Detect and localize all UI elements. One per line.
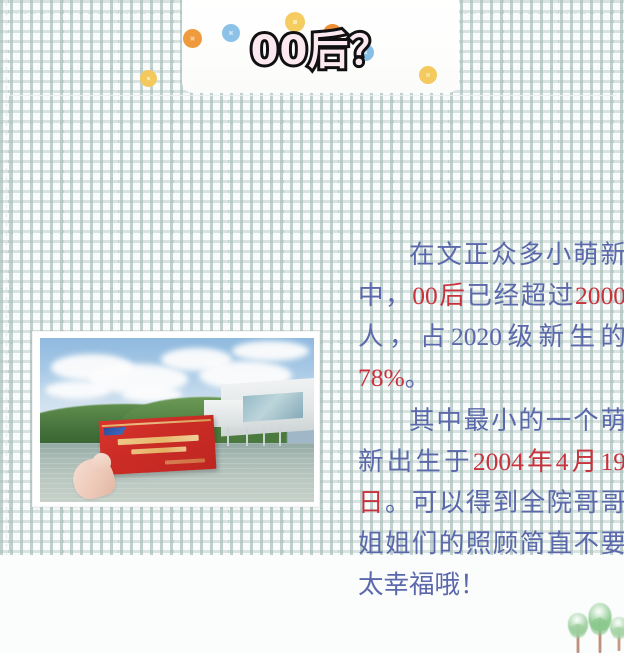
tree-decoration-group — [566, 599, 624, 651]
tree-right-icon — [610, 617, 624, 651]
tree-crown-lower — [590, 618, 609, 635]
photo-building-stilt — [227, 428, 229, 446]
admission-letter-photo — [40, 338, 314, 502]
body-text: 人，占2020级新生的 — [358, 322, 624, 351]
highlighted-text: 2000 — [575, 281, 624, 310]
photo-frame — [32, 331, 320, 507]
photo-building-stilt — [246, 428, 248, 446]
envelope-title-line — [118, 436, 199, 446]
body-text: 。 — [405, 363, 431, 392]
envelope-subtitle-line — [132, 446, 187, 454]
tree-crown-lower — [570, 624, 586, 638]
highlighted-text: 78% — [358, 363, 405, 392]
title-banner: 00后？ — [183, 0, 458, 92]
photo-admission-envelope — [99, 415, 217, 475]
article-text: 在文正众多小萌新中，00后已经超过2000人，占2020级新生的78%。其中最小… — [358, 234, 624, 607]
content-panel: 在文正众多小萌新中，00后已经超过2000人，占2020级新生的78%。其中最小… — [9, 95, 616, 551]
article-paragraph-1: 在文正众多小萌新中，00后已经超过2000人，占2020级新生的78%。 — [358, 234, 624, 398]
tree-left-icon — [568, 613, 588, 653]
photo-building-stilt — [263, 428, 265, 446]
highlighted-text: 00后 — [412, 281, 466, 310]
photo-building-glass — [243, 392, 303, 422]
envelope-school-logo — [104, 427, 127, 436]
body-text: 。可以得到全院哥哥姐姐们的照顾简直不要太幸福哦！ — [358, 488, 624, 599]
photo-building-stilt — [279, 428, 281, 446]
envelope-footer-line — [166, 459, 205, 465]
article-paragraph-2: 其中最小的一个萌新出生于2004年4月19日。可以得到全院哥哥姐姐们的照顾简直不… — [358, 400, 624, 605]
flower-yellow-left-icon — [140, 70, 157, 87]
page-background: 00后？ — [0, 0, 624, 555]
envelope-gold-band — [102, 419, 210, 428]
photo-cloud — [232, 341, 309, 361]
page-title: 00后？ — [183, 28, 458, 74]
body-text: 已经超过 — [467, 281, 575, 310]
tree-crown-lower — [612, 627, 624, 639]
tree-middle-icon — [588, 603, 611, 653]
photo-cloud — [45, 381, 111, 399]
